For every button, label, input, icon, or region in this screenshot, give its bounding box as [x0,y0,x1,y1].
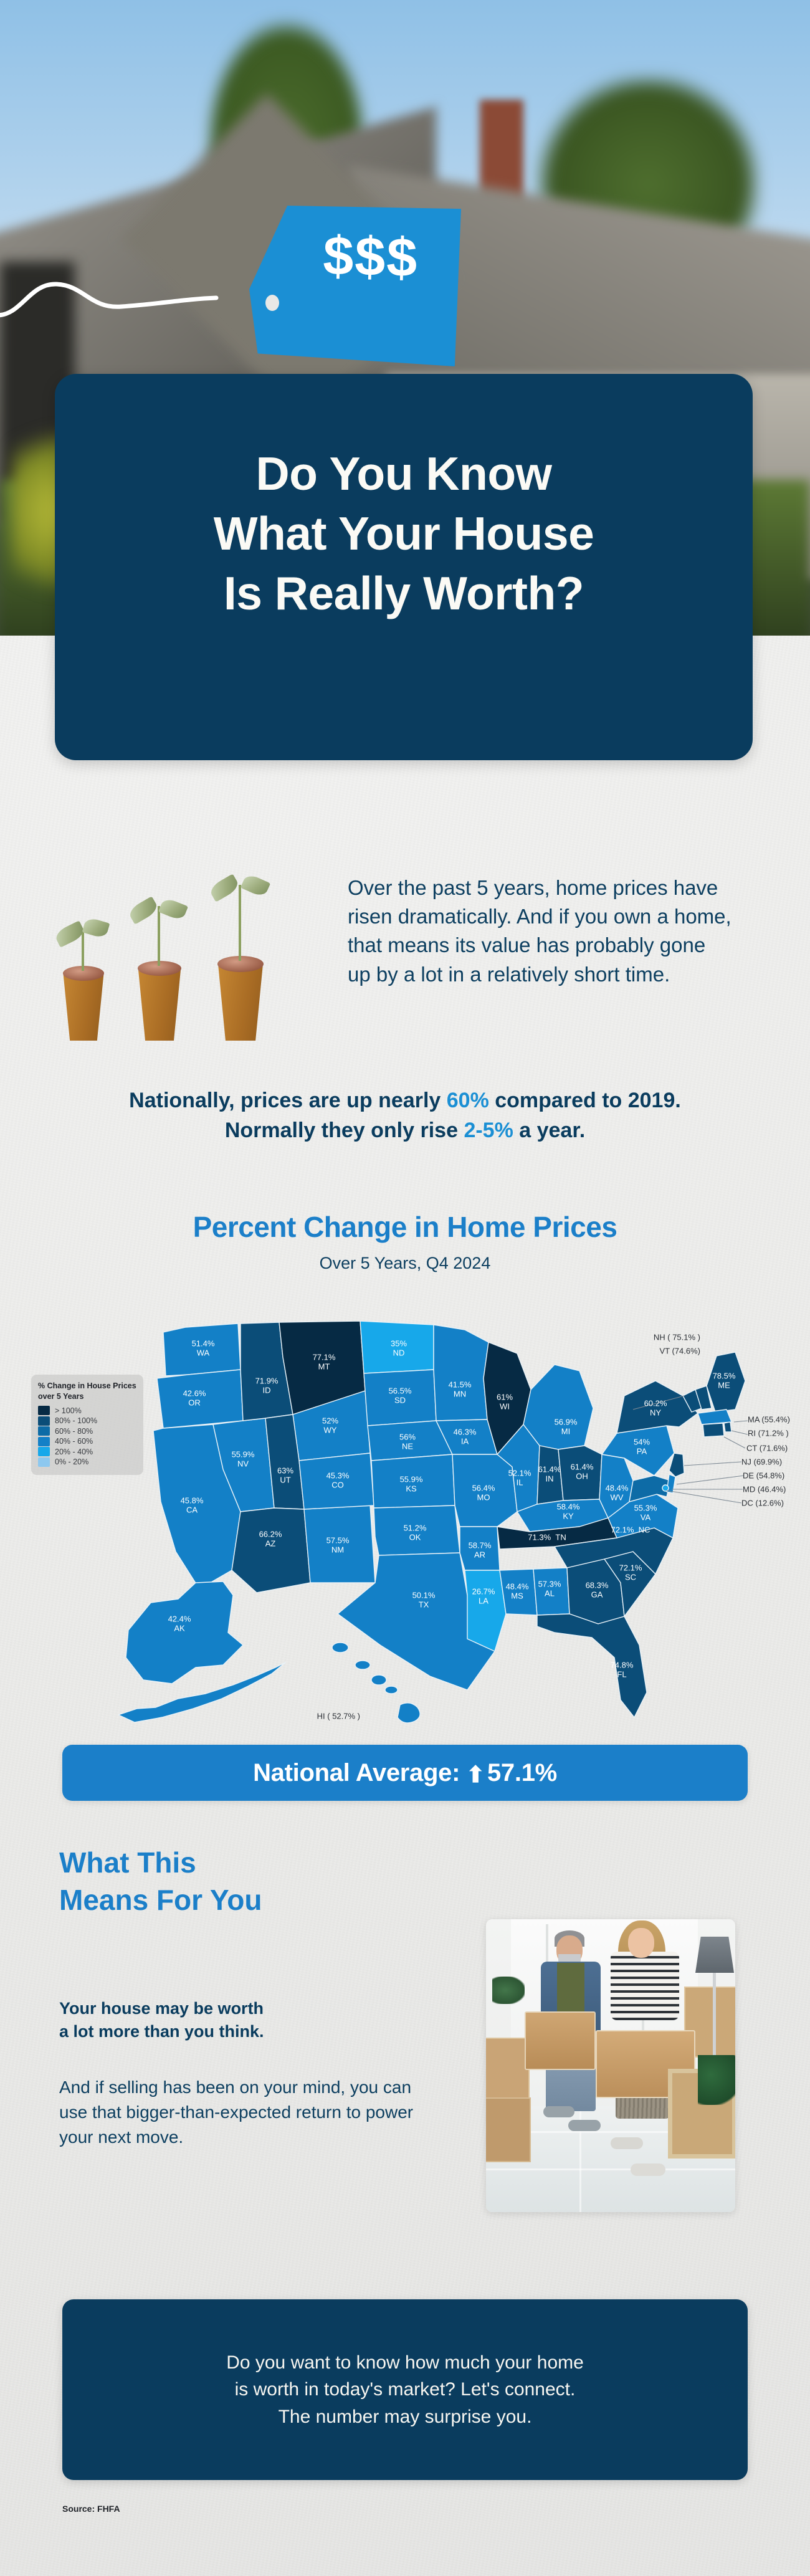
legend-label: 60% - 80% [55,1427,93,1436]
state-FL [537,1614,647,1717]
state-AR [460,1527,500,1570]
nat-line1-highlight: 60% [447,1089,489,1112]
couple-moving-boxes-photo [486,1919,735,2212]
hero-title-line-3: Is Really Worth? [80,563,728,623]
map-callout-label-ri: RI (71.2% ) [748,1429,789,1438]
wtm-bold-line-1: Your house may be worth [59,1997,433,2020]
what-this-means-body: And if selling has been on your mind, yo… [59,2075,439,2149]
legend-swatch-icon [38,1447,50,1456]
map-callout-label-vt: VT (74.6%) [659,1347,700,1356]
state-OK [374,1505,460,1555]
state-WA [163,1324,241,1376]
cta-card: Do you want to know how much your home i… [62,2299,748,2480]
state-RI [724,1422,731,1432]
nat-line2-post: a year. [513,1119,585,1142]
price-tag-graphic: $$$ [212,206,461,374]
map-subtitle: Over 5 Years, Q4 2024 [37,1254,773,1273]
legend-label: 0% - 20% [55,1457,88,1466]
national-average-banner: National Average:⬆57.1% [62,1745,748,1801]
map-callout-label-ct: CT (71.6%) [746,1444,788,1453]
legend-swatch-icon [38,1437,50,1446]
wtm-title-line-1: What This [59,1844,408,1882]
legend-label: 80% - 100% [55,1416,97,1425]
map-callout-label-md: MD (46.4%) [743,1485,786,1494]
legend-swatch-icon [38,1457,50,1467]
state-MS [500,1569,537,1615]
state-CT [703,1423,724,1437]
tag-string-icon [0,262,221,336]
what-this-means-bold: Your house may be worth a lot more than … [59,1997,433,2044]
state-NM [304,1505,375,1583]
state-AZ [232,1508,310,1593]
map-callout-label-nh: NH ( 75.1% ) [654,1333,700,1342]
what-this-means-title: What This Means For You [59,1844,408,1919]
state-CO [299,1453,374,1509]
state-LA [465,1570,506,1651]
cta-line-1: Do you want to know how much your home [226,2349,584,2377]
national-average-value: 57.1% [487,1759,557,1787]
map-title: Percent Change in Home Prices [37,1210,773,1244]
state-MA [698,1410,731,1424]
map-callout-label-de: DE (54.8%) [743,1471,784,1481]
state-AL [533,1568,569,1615]
nat-line1-post: compared to 2019. [489,1089,681,1112]
legend-label: > 100% [55,1406,82,1415]
legend-swatch-icon [38,1426,50,1436]
nat-line1-pre: Nationally, prices are up nearly [129,1089,447,1112]
state-OH [558,1446,602,1500]
map-callout-label-dc: DC (12.6%) [741,1499,784,1508]
hero-title-line-2: What Your House [80,503,728,563]
leader-ct [724,1437,745,1448]
cta-line-3: The number may surprise you. [226,2403,584,2431]
map-callout-label-ma: MA (55.4%) [748,1415,790,1424]
state-KS [371,1454,455,1508]
wtm-title-line-2: Means For You [59,1882,408,1919]
intro-paragraph: Over the past 5 years, home prices have … [348,874,734,989]
leader-nj [684,1462,741,1466]
state-ME [707,1352,745,1412]
legend-swatch-icon [38,1406,50,1415]
state-MO [452,1454,517,1527]
national-stat-line: Nationally, prices are up nearly 60% com… [37,1085,773,1146]
wtm-bold-line-2: a lot more than you think. [59,2020,433,2043]
state-AK [126,1581,243,1684]
state-MI [523,1365,593,1449]
money-sprouts-illustration [59,885,327,1047]
state-ND [360,1321,434,1373]
us-map-svg [118,1321,798,1745]
nat-line2-highlight: 2-5% [464,1119,513,1142]
state-NY [617,1381,698,1433]
state-MN [434,1325,488,1421]
legend-swatch-icon [38,1416,50,1426]
state-SD [364,1370,436,1426]
legend-label: 20% - 40% [55,1448,93,1456]
state-OR [157,1370,243,1428]
nat-line2-pre: Normally they only rise [225,1119,464,1142]
leader-de [677,1476,744,1484]
us-choropleth-map: 51.4%WA42.6%OR45.8%CA55.9%NV71.9%ID77.1%… [118,1321,798,1745]
national-average-label: National Average: [253,1759,460,1787]
leader-ma [734,1421,748,1422]
hero-title-card: Do You Know What Your House Is Really Wo… [55,374,753,760]
leader-dc [667,1491,741,1503]
state-DC [662,1485,669,1491]
cta-line-2: is worth in today's market? Let's connec… [226,2376,584,2403]
map-callout-label-nj: NJ (69.9%) [741,1457,782,1467]
source-label: Source: FHFA [62,2504,120,2514]
price-tag-dollars: $$$ [280,227,462,286]
up-arrow-icon: ⬆ [466,1763,485,1786]
legend-label: 40% - 60% [55,1437,93,1446]
leader-ri [731,1431,748,1434]
hero-title-line-1: Do You Know [80,444,728,503]
map-callout-label-hi: HI ( 52.7% ) [317,1712,360,1721]
